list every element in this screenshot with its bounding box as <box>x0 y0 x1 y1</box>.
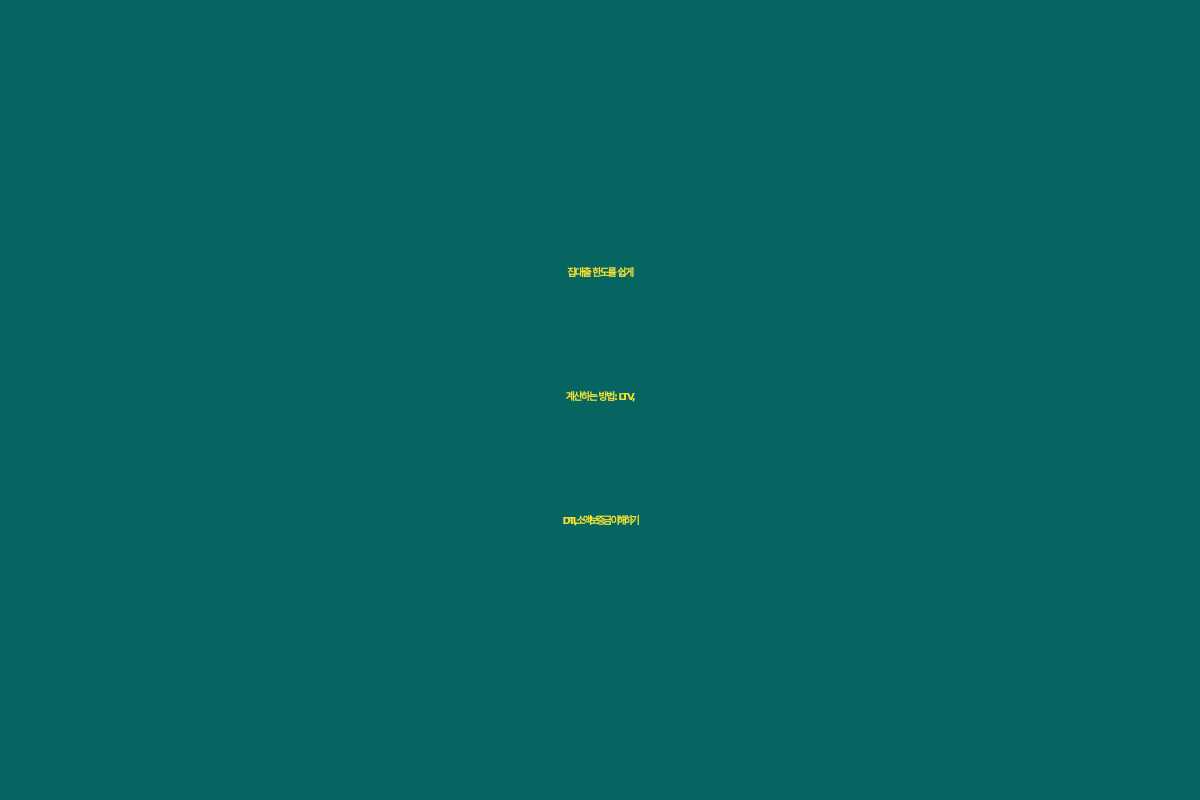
title-line-3: DTI, 소액보증금 이해하기 <box>10 460 1190 584</box>
page-title: 집대출 한도를 쉽게 계산하는 방법: LTV, DTI, 소액보증금 이해하기 <box>0 212 1200 584</box>
title-line-2: 계산하는 방법: LTV, <box>10 336 1190 460</box>
title-line-1: 집대출 한도를 쉽게 <box>10 212 1190 336</box>
thumbnail-canvas: 집대출 한도를 쉽게 계산하는 방법: LTV, DTI, 소액보증금 이해하기 <box>0 0 1200 800</box>
